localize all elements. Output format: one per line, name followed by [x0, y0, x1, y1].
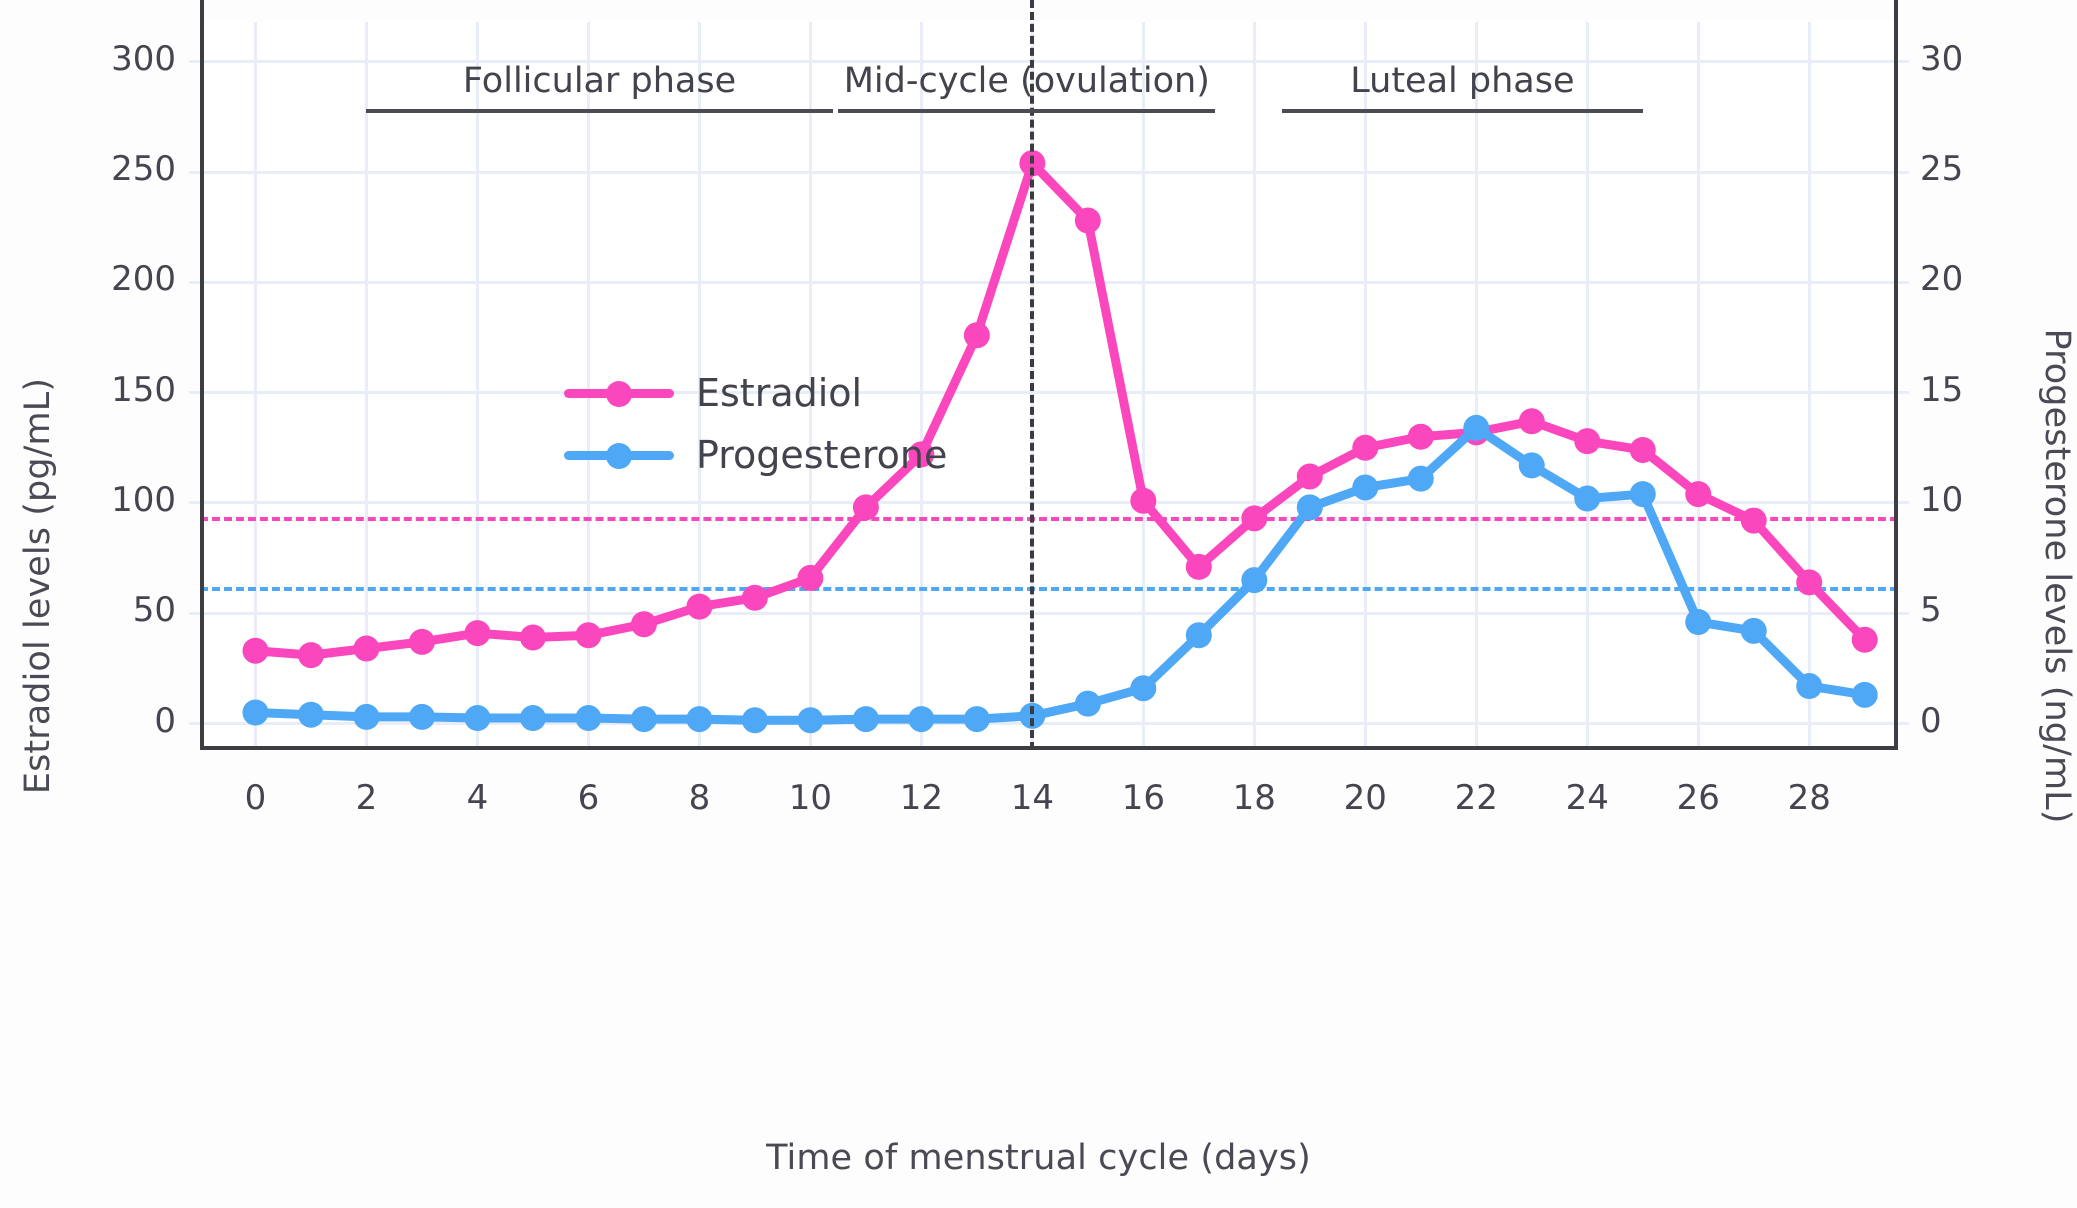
- data-point[interactable]: [1297, 494, 1323, 520]
- data-point[interactable]: [797, 565, 823, 591]
- x-tick-label: 6: [528, 778, 648, 818]
- x-tick-label: 24: [1527, 778, 1647, 818]
- annotation-luteal-phase: Luteal phase: [1282, 60, 1643, 113]
- legend-swatch-progesterone: [564, 440, 674, 470]
- data-point[interactable]: [1075, 208, 1101, 234]
- x-tick-label: 26: [1638, 778, 1758, 818]
- y-axis-left-spine: [200, 0, 204, 750]
- annotation-underline: [838, 109, 1215, 113]
- data-point[interactable]: [1186, 622, 1212, 648]
- data-point[interactable]: [1630, 437, 1656, 463]
- x-tick-label: 0: [195, 778, 315, 818]
- y-tick-label-left: 300: [26, 39, 176, 79]
- y-tick-left: [189, 391, 200, 394]
- y-tick-label-right: 20: [1920, 259, 2070, 299]
- chart-canvas: Estradiol levels (pg/mL) Progesterone le…: [0, 0, 2077, 1208]
- y-tick-label-left: 0: [26, 701, 176, 741]
- series-line: [255, 428, 1864, 720]
- x-axis-title: Time of menstrual cycle (days): [0, 1138, 2077, 1178]
- data-point[interactable]: [964, 706, 990, 732]
- legend-item-estradiol[interactable]: Estradiol: [564, 362, 947, 424]
- data-point[interactable]: [1075, 691, 1101, 717]
- data-point[interactable]: [1685, 481, 1711, 507]
- data-point[interactable]: [1574, 428, 1600, 454]
- x-tick-label: 28: [1749, 778, 1869, 818]
- data-point[interactable]: [797, 707, 823, 733]
- y-tick-label-left: 200: [26, 259, 176, 299]
- x-tick-label: 16: [1083, 778, 1203, 818]
- annotation-label: Follicular phase: [366, 60, 832, 102]
- data-point[interactable]: [1463, 415, 1489, 441]
- annotation-label: Luteal phase: [1282, 60, 1643, 102]
- annotation-underline: [1282, 109, 1643, 113]
- series-line: [255, 163, 1864, 655]
- data-point[interactable]: [631, 611, 657, 637]
- annotation-follicular-phase: Follicular phase: [366, 60, 832, 113]
- y-tick-label-right: 10: [1920, 480, 2070, 520]
- y-tick-left: [189, 722, 200, 725]
- data-point[interactable]: [742, 707, 768, 733]
- data-point[interactable]: [464, 620, 490, 646]
- y-tick-right: [1898, 391, 1909, 394]
- plot-area: Estradiol Progesterone: [200, 22, 1898, 750]
- data-point[interactable]: [575, 705, 601, 731]
- y-tick-left: [189, 60, 200, 63]
- y-tick-right: [1898, 281, 1909, 284]
- x-tick-label: 12: [861, 778, 981, 818]
- data-point[interactable]: [1796, 569, 1822, 595]
- data-point[interactable]: [1796, 673, 1822, 699]
- y-tick-left: [189, 171, 200, 174]
- series-layer: [200, 22, 1898, 750]
- data-point[interactable]: [1130, 488, 1156, 514]
- y-tick-right: [1898, 722, 1909, 725]
- x-tick-label: 22: [1416, 778, 1536, 818]
- y-axis-right-spine: [1894, 0, 1898, 750]
- data-point[interactable]: [298, 702, 324, 728]
- data-point[interactable]: [1741, 508, 1767, 534]
- y-tick-label-left: 50: [26, 590, 176, 630]
- data-point[interactable]: [1408, 424, 1434, 450]
- legend-swatch-estradiol: [564, 378, 674, 408]
- data-point[interactable]: [464, 705, 490, 731]
- chart-legend: Estradiol Progesterone: [564, 362, 947, 486]
- data-point[interactable]: [853, 706, 879, 732]
- data-point[interactable]: [1852, 682, 1878, 708]
- data-point[interactable]: [1852, 627, 1878, 653]
- series-progesterone: [242, 415, 1877, 733]
- data-point[interactable]: [1352, 435, 1378, 461]
- data-point[interactable]: [964, 322, 990, 348]
- data-point[interactable]: [631, 706, 657, 732]
- y-tick-right: [1898, 60, 1909, 63]
- y-tick-right: [1898, 501, 1909, 504]
- y-tick-left: [189, 281, 200, 284]
- y-tick-right: [1898, 171, 1909, 174]
- data-point[interactable]: [1297, 463, 1323, 489]
- y-tick-label-left: 100: [26, 480, 176, 520]
- data-point[interactable]: [686, 706, 712, 732]
- data-point[interactable]: [908, 706, 934, 732]
- data-point[interactable]: [409, 704, 435, 730]
- y-tick-left: [189, 501, 200, 504]
- data-point[interactable]: [1352, 474, 1378, 500]
- data-point[interactable]: [1519, 452, 1545, 478]
- x-tick-label: 10: [750, 778, 870, 818]
- y-tick-left: [189, 612, 200, 615]
- data-point[interactable]: [1241, 505, 1267, 531]
- series-estradiol: [242, 150, 1877, 668]
- annotation-label: Mid-cycle (ovulation): [838, 60, 1215, 102]
- data-point[interactable]: [742, 585, 768, 611]
- data-point[interactable]: [1186, 554, 1212, 580]
- annotation-mid-cycle-phase: Mid-cycle (ovulation): [838, 60, 1215, 113]
- annotation-underline: [366, 109, 832, 113]
- x-tick-label: 18: [1194, 778, 1314, 818]
- y-tick-label-right: 30: [1920, 39, 2070, 79]
- data-point[interactable]: [1408, 466, 1434, 492]
- data-point[interactable]: [242, 700, 268, 726]
- y-tick-label-left: 150: [26, 370, 176, 410]
- legend-item-progesterone[interactable]: Progesterone: [564, 424, 947, 486]
- data-point[interactable]: [1574, 486, 1600, 512]
- y-tick-right: [1898, 612, 1909, 615]
- data-point[interactable]: [520, 705, 546, 731]
- data-point[interactable]: [242, 638, 268, 664]
- data-point[interactable]: [409, 629, 435, 655]
- data-point[interactable]: [520, 624, 546, 650]
- data-point[interactable]: [1630, 481, 1656, 507]
- data-point[interactable]: [686, 594, 712, 620]
- data-point[interactable]: [1519, 408, 1545, 434]
- data-point[interactable]: [298, 642, 324, 668]
- y-tick-label-left: 250: [26, 149, 176, 189]
- data-point[interactable]: [353, 636, 379, 662]
- legend-label-progesterone: Progesterone: [696, 433, 947, 477]
- x-tick-label: 4: [417, 778, 537, 818]
- data-point[interactable]: [1741, 618, 1767, 644]
- legend-label-estradiol: Estradiol: [696, 371, 862, 415]
- x-tick-label: 2: [306, 778, 426, 818]
- x-axis-spine: [200, 746, 1898, 750]
- y-tick-label-right: 5: [1920, 590, 2070, 630]
- x-tick-label: 8: [639, 778, 759, 818]
- data-point[interactable]: [1241, 567, 1267, 593]
- x-tick-label: 14: [972, 778, 1092, 818]
- data-point[interactable]: [575, 622, 601, 648]
- data-point[interactable]: [1130, 675, 1156, 701]
- y-tick-label-right: 25: [1920, 149, 2070, 189]
- data-point[interactable]: [1685, 609, 1711, 635]
- y-tick-label-right: 0: [1920, 701, 2070, 741]
- data-point[interactable]: [853, 494, 879, 520]
- x-tick-label: 20: [1305, 778, 1425, 818]
- y-tick-label-right: 15: [1920, 370, 2070, 410]
- data-point[interactable]: [353, 704, 379, 730]
